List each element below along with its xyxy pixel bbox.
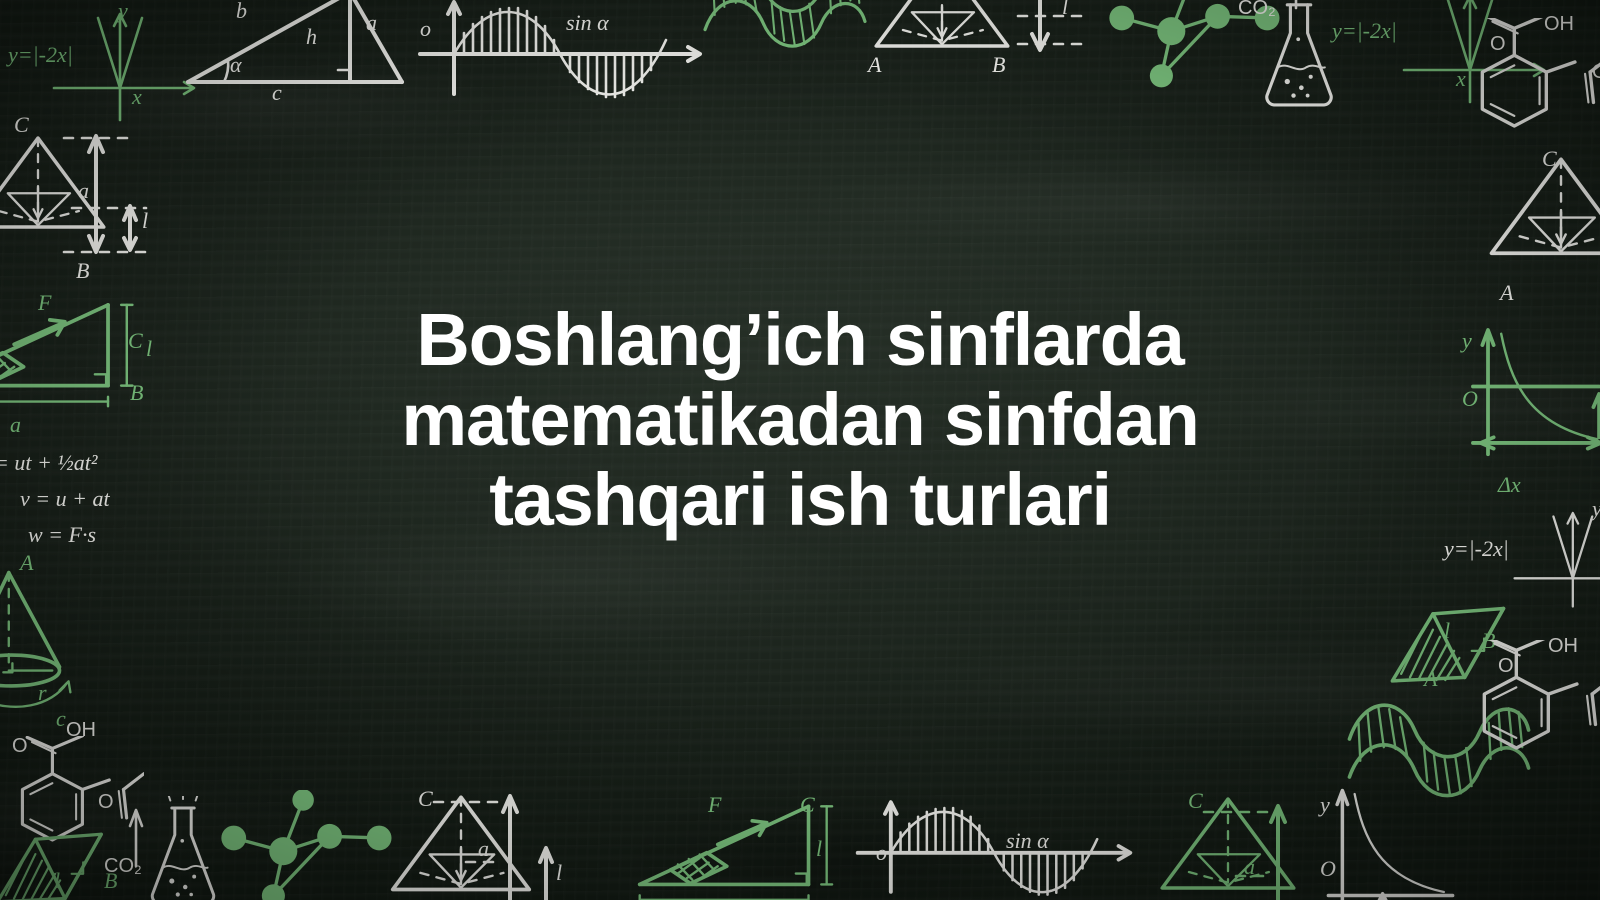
doodle-inclined-plane-green-bottom: F C l bbox=[640, 792, 832, 900]
doodle-abs-value-graph-green-topleft: y=|-2x| x y bbox=[6, 0, 194, 120]
svg-text:c: c bbox=[272, 80, 282, 105]
doodle-sine-wave-white-top: o sin α bbox=[420, 2, 700, 97]
title-line-1: Boshlang’ich sinflarda bbox=[416, 300, 1183, 380]
svg-text:B: B bbox=[992, 52, 1005, 77]
svg-text:o: o bbox=[876, 840, 887, 865]
svg-text:a: a bbox=[78, 178, 89, 203]
svg-text:A: A bbox=[1422, 666, 1438, 691]
svg-text:a: a bbox=[1244, 854, 1255, 879]
doodle-pyramid-white-right: C A bbox=[1492, 146, 1600, 305]
chalkboard-slide: .w { stroke:#f2f2ee; fill:none; stroke-w… bbox=[0, 0, 1600, 900]
doodle-benzene-aspirin-white-bottomleft: O OH O bbox=[12, 719, 144, 840]
svg-text:B: B bbox=[1482, 628, 1495, 653]
svg-text:CO₂: CO₂ bbox=[1238, 0, 1276, 19]
svg-text:y: y bbox=[1318, 792, 1330, 817]
doodle-sine-wave-white-bottom: o sin α bbox=[858, 802, 1131, 894]
svg-text:OH: OH bbox=[66, 719, 96, 741]
svg-text:OH: OH bbox=[1548, 635, 1578, 657]
svg-text:h: h bbox=[306, 24, 317, 49]
doodle-abs-value-graph-green-topright: y=|-2x| x bbox=[1330, 0, 1544, 102]
doodle-molecule-network-green-bottom bbox=[221, 789, 391, 900]
svg-text:a: a bbox=[366, 10, 377, 35]
doodle-pyramid-green-bottom: C a bbox=[1162, 788, 1294, 900]
doodle-pyramid-white-left: C B a l bbox=[0, 112, 148, 283]
svg-text:B: B bbox=[104, 868, 117, 893]
doodle-benzene-aspirin-white-bottomright: O OH bbox=[1484, 635, 1600, 748]
svg-text:y=|-2x|: y=|-2x| bbox=[6, 42, 73, 67]
doodle-flask-white-bottomleft: CO₂ bbox=[104, 795, 214, 900]
svg-text:C: C bbox=[800, 792, 815, 817]
svg-text:O: O bbox=[1490, 33, 1506, 55]
svg-text:sin α: sin α bbox=[1006, 828, 1049, 853]
svg-text:α: α bbox=[230, 52, 242, 77]
svg-text:C: C bbox=[1542, 146, 1557, 171]
svg-text:b: b bbox=[236, 0, 247, 23]
svg-text:a: a bbox=[478, 836, 489, 861]
svg-text:CO₂: CO₂ bbox=[104, 855, 142, 877]
doodle-right-triangle-white-top: b a h c α bbox=[188, 0, 402, 105]
doodle-benzene-aspirin-white-topright: O OH O bbox=[1482, 13, 1600, 126]
svg-text:y: y bbox=[116, 0, 128, 23]
svg-text:O: O bbox=[1498, 655, 1514, 677]
svg-text:B: B bbox=[76, 258, 89, 283]
svg-text:O: O bbox=[1320, 856, 1336, 881]
svg-text:O: O bbox=[1592, 61, 1600, 83]
svg-text:l: l bbox=[54, 868, 60, 893]
title-line-3: tashqari ish turlari bbox=[489, 460, 1111, 540]
svg-text:l: l bbox=[816, 836, 822, 861]
doodle-wedge-green-bottomleft: l B bbox=[0, 834, 117, 900]
doodle-cone-green-left: A r c bbox=[0, 550, 70, 731]
svg-text:OH: OH bbox=[1544, 13, 1574, 35]
svg-text:o: o bbox=[420, 16, 431, 41]
svg-text:A: A bbox=[18, 550, 34, 575]
svg-text:l: l bbox=[556, 860, 562, 885]
svg-text:O: O bbox=[98, 791, 114, 813]
doodle-molecule-network-green-top bbox=[1109, 0, 1279, 87]
doodle-dna-helix-green-top bbox=[705, 0, 865, 46]
svg-text:A: A bbox=[866, 52, 882, 77]
svg-text:F: F bbox=[707, 792, 722, 817]
svg-text:r: r bbox=[38, 680, 47, 705]
svg-text:l: l bbox=[1444, 618, 1450, 643]
svg-text:l: l bbox=[1062, 0, 1068, 19]
svg-text:C: C bbox=[418, 786, 433, 811]
svg-text:x: x bbox=[1455, 66, 1466, 91]
svg-text:l: l bbox=[142, 208, 148, 233]
doodle-hyperbola-graph-white-bottom: y O bbox=[1318, 791, 1453, 900]
doodle-flask-white-top: CO₂ bbox=[1238, 0, 1331, 105]
svg-text:C: C bbox=[1188, 788, 1203, 813]
svg-text:O: O bbox=[12, 735, 28, 757]
svg-text:x: x bbox=[131, 84, 142, 109]
doodle-dna-helix-green-bottomright bbox=[1349, 705, 1528, 795]
doodle-wedge-green-bottomright: l B A bbox=[1392, 609, 1503, 691]
svg-text:C: C bbox=[14, 112, 29, 137]
title-line-2: matematikadan sinfdan bbox=[401, 380, 1198, 460]
page-title: Boshlang’ich sinflarda matematikadan sin… bbox=[0, 300, 1600, 540]
svg-text:c: c bbox=[56, 706, 66, 731]
doodle-pyramid-white-top: A B l bbox=[866, 0, 1082, 77]
svg-text:sin α: sin α bbox=[566, 10, 609, 35]
svg-text:y=|-2x|: y=|-2x| bbox=[1330, 18, 1397, 43]
doodle-pyramid-white-bottom: C a l bbox=[393, 786, 562, 900]
